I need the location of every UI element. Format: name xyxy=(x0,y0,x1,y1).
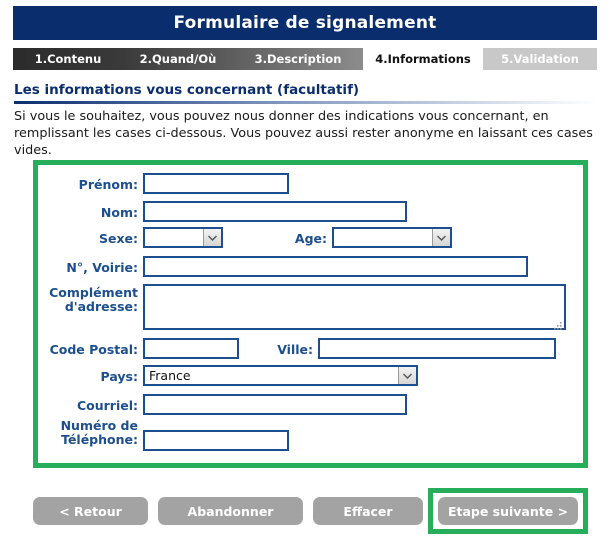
sexe-select[interactable] xyxy=(143,227,223,248)
complement-textarea[interactable] xyxy=(143,284,566,330)
heading-divider xyxy=(14,101,597,104)
field-row-nom: Nom: xyxy=(38,201,407,222)
chevron-down-icon xyxy=(398,367,416,384)
next-step-button[interactable]: Etape suivante > xyxy=(438,497,578,525)
nom-input[interactable] xyxy=(143,201,407,222)
form-page: Formulaire de signalement 1.Contenu 2.Qu… xyxy=(0,0,610,550)
label-complement-line1: Complément xyxy=(38,286,138,300)
form-actions: < Retour Abandonner Effacer Etape suivan… xyxy=(0,497,610,537)
code-postal-input[interactable] xyxy=(143,338,239,359)
page-title: Formulaire de signalement xyxy=(174,13,437,33)
label-telephone-line1: Numéro de xyxy=(38,419,138,433)
chevron-down-icon xyxy=(432,229,450,246)
label-age: Age: xyxy=(237,227,327,246)
field-row-telephone: Numéro de Téléphone: xyxy=(38,417,289,451)
label-ville: Ville: xyxy=(253,338,313,357)
age-select[interactable] xyxy=(332,227,452,248)
chevron-down-icon xyxy=(203,229,221,246)
voirie-input[interactable] xyxy=(143,256,528,277)
label-telephone: Numéro de Téléphone: xyxy=(38,417,138,447)
field-row-complement: Complément d'adresse: xyxy=(38,284,566,334)
step-tab-strip: 1.Contenu 2.Quand/Où 3.Description 4.Inf… xyxy=(13,48,597,70)
field-row-courriel: Courriel: xyxy=(38,394,407,415)
pays-select[interactable]: France xyxy=(143,365,418,386)
prenom-input[interactable] xyxy=(143,173,289,194)
tab-quand-ou[interactable]: 2.Quand/Où xyxy=(123,48,233,70)
label-courriel: Courriel: xyxy=(38,394,138,413)
label-code-postal: Code Postal: xyxy=(38,338,138,357)
field-row-prenom: Prénom: xyxy=(38,173,289,194)
label-voirie: N°, Voirie: xyxy=(38,256,138,275)
label-complement: Complément d'adresse: xyxy=(38,284,138,314)
label-pays: Pays: xyxy=(38,365,138,384)
ville-input[interactable] xyxy=(318,338,556,359)
field-row-voirie: N°, Voirie: xyxy=(38,256,528,277)
label-telephone-line2: Téléphone: xyxy=(38,433,138,447)
label-sexe: Sexe: xyxy=(38,227,138,246)
cancel-button[interactable]: Abandonner xyxy=(158,497,303,525)
personal-info-form: Prénom: Nom: Sexe: Age: xyxy=(38,165,583,463)
label-nom: Nom: xyxy=(38,201,138,220)
tab-description[interactable]: 3.Description xyxy=(233,48,363,70)
page-header: Formulaire de signalement xyxy=(13,6,597,40)
field-row-pays: Pays: France xyxy=(38,365,418,386)
label-complement-line2: d'adresse: xyxy=(38,300,138,314)
back-button[interactable]: < Retour xyxy=(33,497,148,525)
section-intro-text: Si vous le souhaitez, vous pouvez nous d… xyxy=(14,108,594,159)
field-row-cp-ville: Code Postal: Ville: xyxy=(38,338,556,359)
field-row-sexe-age: Sexe: Age: xyxy=(38,227,452,248)
tab-validation[interactable]: 5.Validation xyxy=(483,48,597,70)
tab-contenu[interactable]: 1.Contenu xyxy=(13,48,123,70)
courriel-input[interactable] xyxy=(143,394,407,415)
pays-select-value: France xyxy=(145,368,398,383)
complement-textarea-wrap xyxy=(143,284,566,334)
clear-button[interactable]: Effacer xyxy=(313,497,423,525)
telephone-input[interactable] xyxy=(143,430,289,451)
label-prenom: Prénom: xyxy=(38,173,138,192)
section-heading: Les informations vous concernant (facult… xyxy=(14,82,359,98)
tab-informations[interactable]: 4.Informations xyxy=(363,48,483,70)
